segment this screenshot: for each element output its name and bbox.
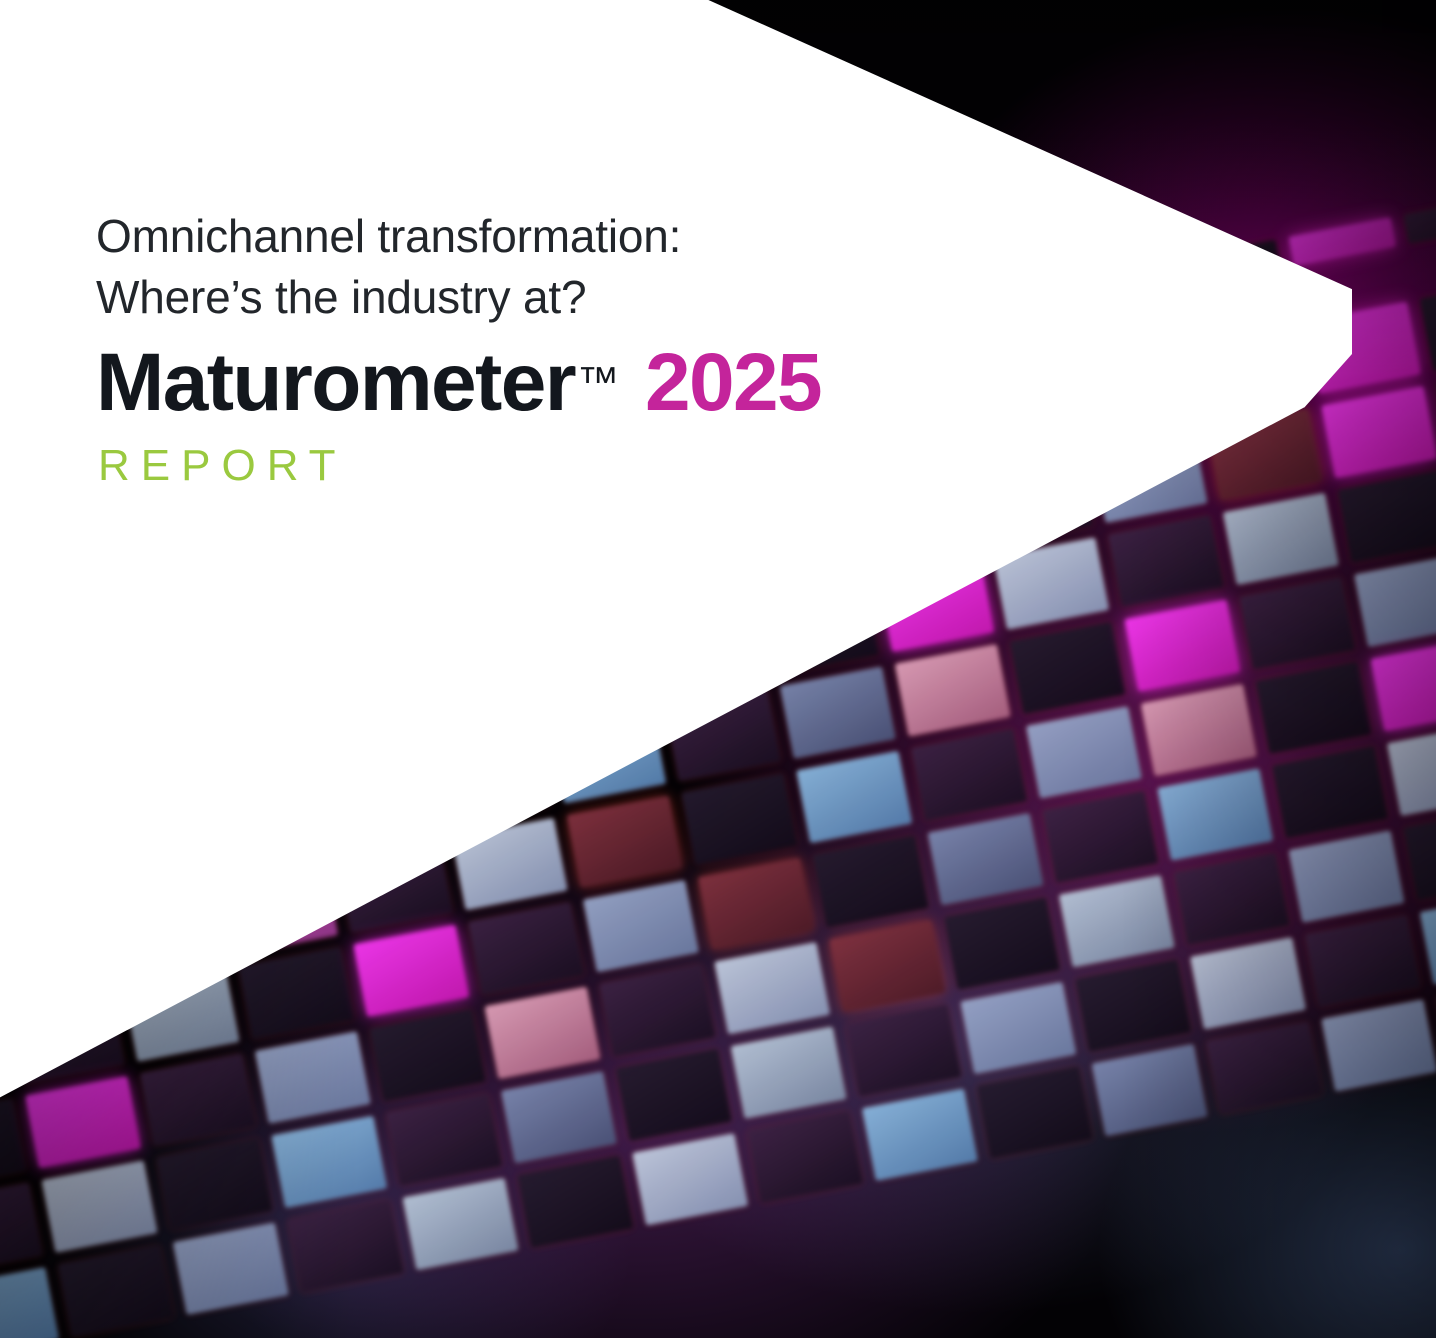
page-title: Maturometer™2025 [96,341,1246,425]
title-word: Maturometer [96,337,575,428]
report-cover: Omnichannel transformation: Where’s the … [0,0,1436,1338]
report-year: 2025 [645,337,821,428]
title-block: Omnichannel transformation: Where’s the … [96,206,1246,491]
trademark-symbol: ™ [577,358,619,405]
kicker-line-2: Where’s the industry at? [96,267,1246,328]
kicker-line-1: Omnichannel transformation: [96,206,1246,267]
report-subtitle: REPORT [98,441,1246,491]
